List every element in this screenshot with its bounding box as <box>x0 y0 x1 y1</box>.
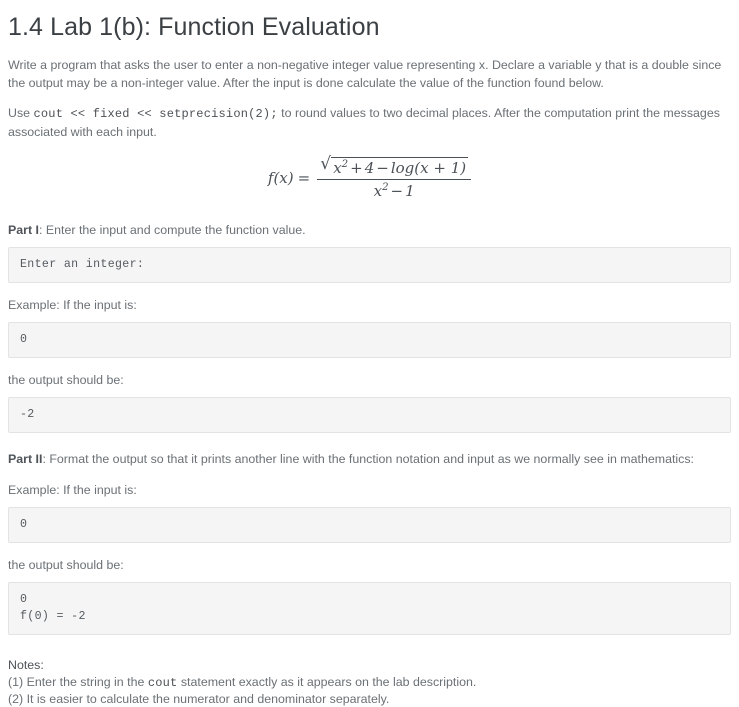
part2-output-label: the output should be: <box>8 543 731 574</box>
note-item-1: (1) Enter the string in the cout stateme… <box>8 674 731 691</box>
formula-numerator: √ x2+4−log(x + 1) <box>317 157 471 180</box>
setprecision-code-snippet: cout << fixed << setprecision(2); <box>33 107 277 121</box>
radicand-log-arg: (x + 1) <box>414 159 466 177</box>
formula-denominator: x2−1 <box>317 180 471 200</box>
formula-fx-label: f(x) <box>268 169 294 187</box>
notes-section: Notes: (1) Enter the string in the cout … <box>8 635 731 707</box>
part1-prompt-codeblock: Enter an integer: <box>8 247 731 283</box>
part2-example-label: Example: If the input is: <box>8 468 731 499</box>
part1-input-codeblock: 0 <box>8 322 731 358</box>
part1-heading: Part I: Enter the input and compute the … <box>8 204 731 239</box>
formula-lhs: f(x)= <box>268 169 317 187</box>
radicand-plus-op: + <box>348 159 365 177</box>
part1-label: Part I <box>8 223 39 237</box>
notes-title: Notes: <box>8 657 731 674</box>
page-title: 1.4 Lab 1(b): Function Evaluation <box>8 0 731 44</box>
note-2-prefix: (2) It is easier to calculate the numera… <box>8 692 389 706</box>
part2-input-codeblock: 0 <box>8 507 731 543</box>
function-formula: f(x)= √ x2+4−log(x + 1) x2−1 <box>8 141 731 204</box>
part1-heading-text: : Enter the input and compute the functi… <box>39 223 306 237</box>
lab-assignment-page: 1.4 Lab 1(b): Function Evaluation Write … <box>0 0 739 707</box>
square-root-icon: √ <box>320 156 331 173</box>
part1-output-codeblock: -2 <box>8 397 731 433</box>
radicand-four: 4 <box>365 159 375 177</box>
note-1-code-snippet: cout <box>148 676 178 690</box>
radicand-minus-op: − <box>374 159 391 177</box>
part1-example-label: Example: If the input is: <box>8 283 731 314</box>
precision-prefix-text: Use <box>8 106 33 120</box>
part2-heading-text: : Format the output so that it prints an… <box>42 452 694 466</box>
note-item-2: (2) It is easier to calculate the numera… <box>8 691 731 707</box>
radicand-base: x <box>333 159 341 177</box>
denominator-base: x <box>374 182 382 200</box>
denominator-one: 1 <box>405 182 415 200</box>
precision-paragraph: Use cout << fixed << setprecision(2); to… <box>8 92 731 141</box>
formula-equals-sign: = <box>294 169 311 187</box>
note-1-suffix: statement exactly as it appears on the l… <box>177 675 476 689</box>
intro-paragraph: Write a program that asks the user to en… <box>8 44 731 92</box>
denominator-minus-op: − <box>389 182 406 200</box>
denominator-power: 2 <box>382 182 388 193</box>
radicand-log: log <box>391 159 414 177</box>
part2-output-codeblock: 0 f(0) = -2 <box>8 582 731 635</box>
formula-radical: √ x2+4−log(x + 1) <box>320 157 468 177</box>
formula-fraction: √ x2+4−log(x + 1) x2−1 <box>317 157 471 200</box>
part2-label: Part II <box>8 452 42 466</box>
note-1-prefix: (1) Enter the string in the <box>8 675 148 689</box>
part2-heading: Part II: Format the output so that it pr… <box>8 433 731 468</box>
formula-radicand: x2+4−log(x + 1) <box>331 157 468 177</box>
part1-output-label: the output should be: <box>8 358 731 389</box>
